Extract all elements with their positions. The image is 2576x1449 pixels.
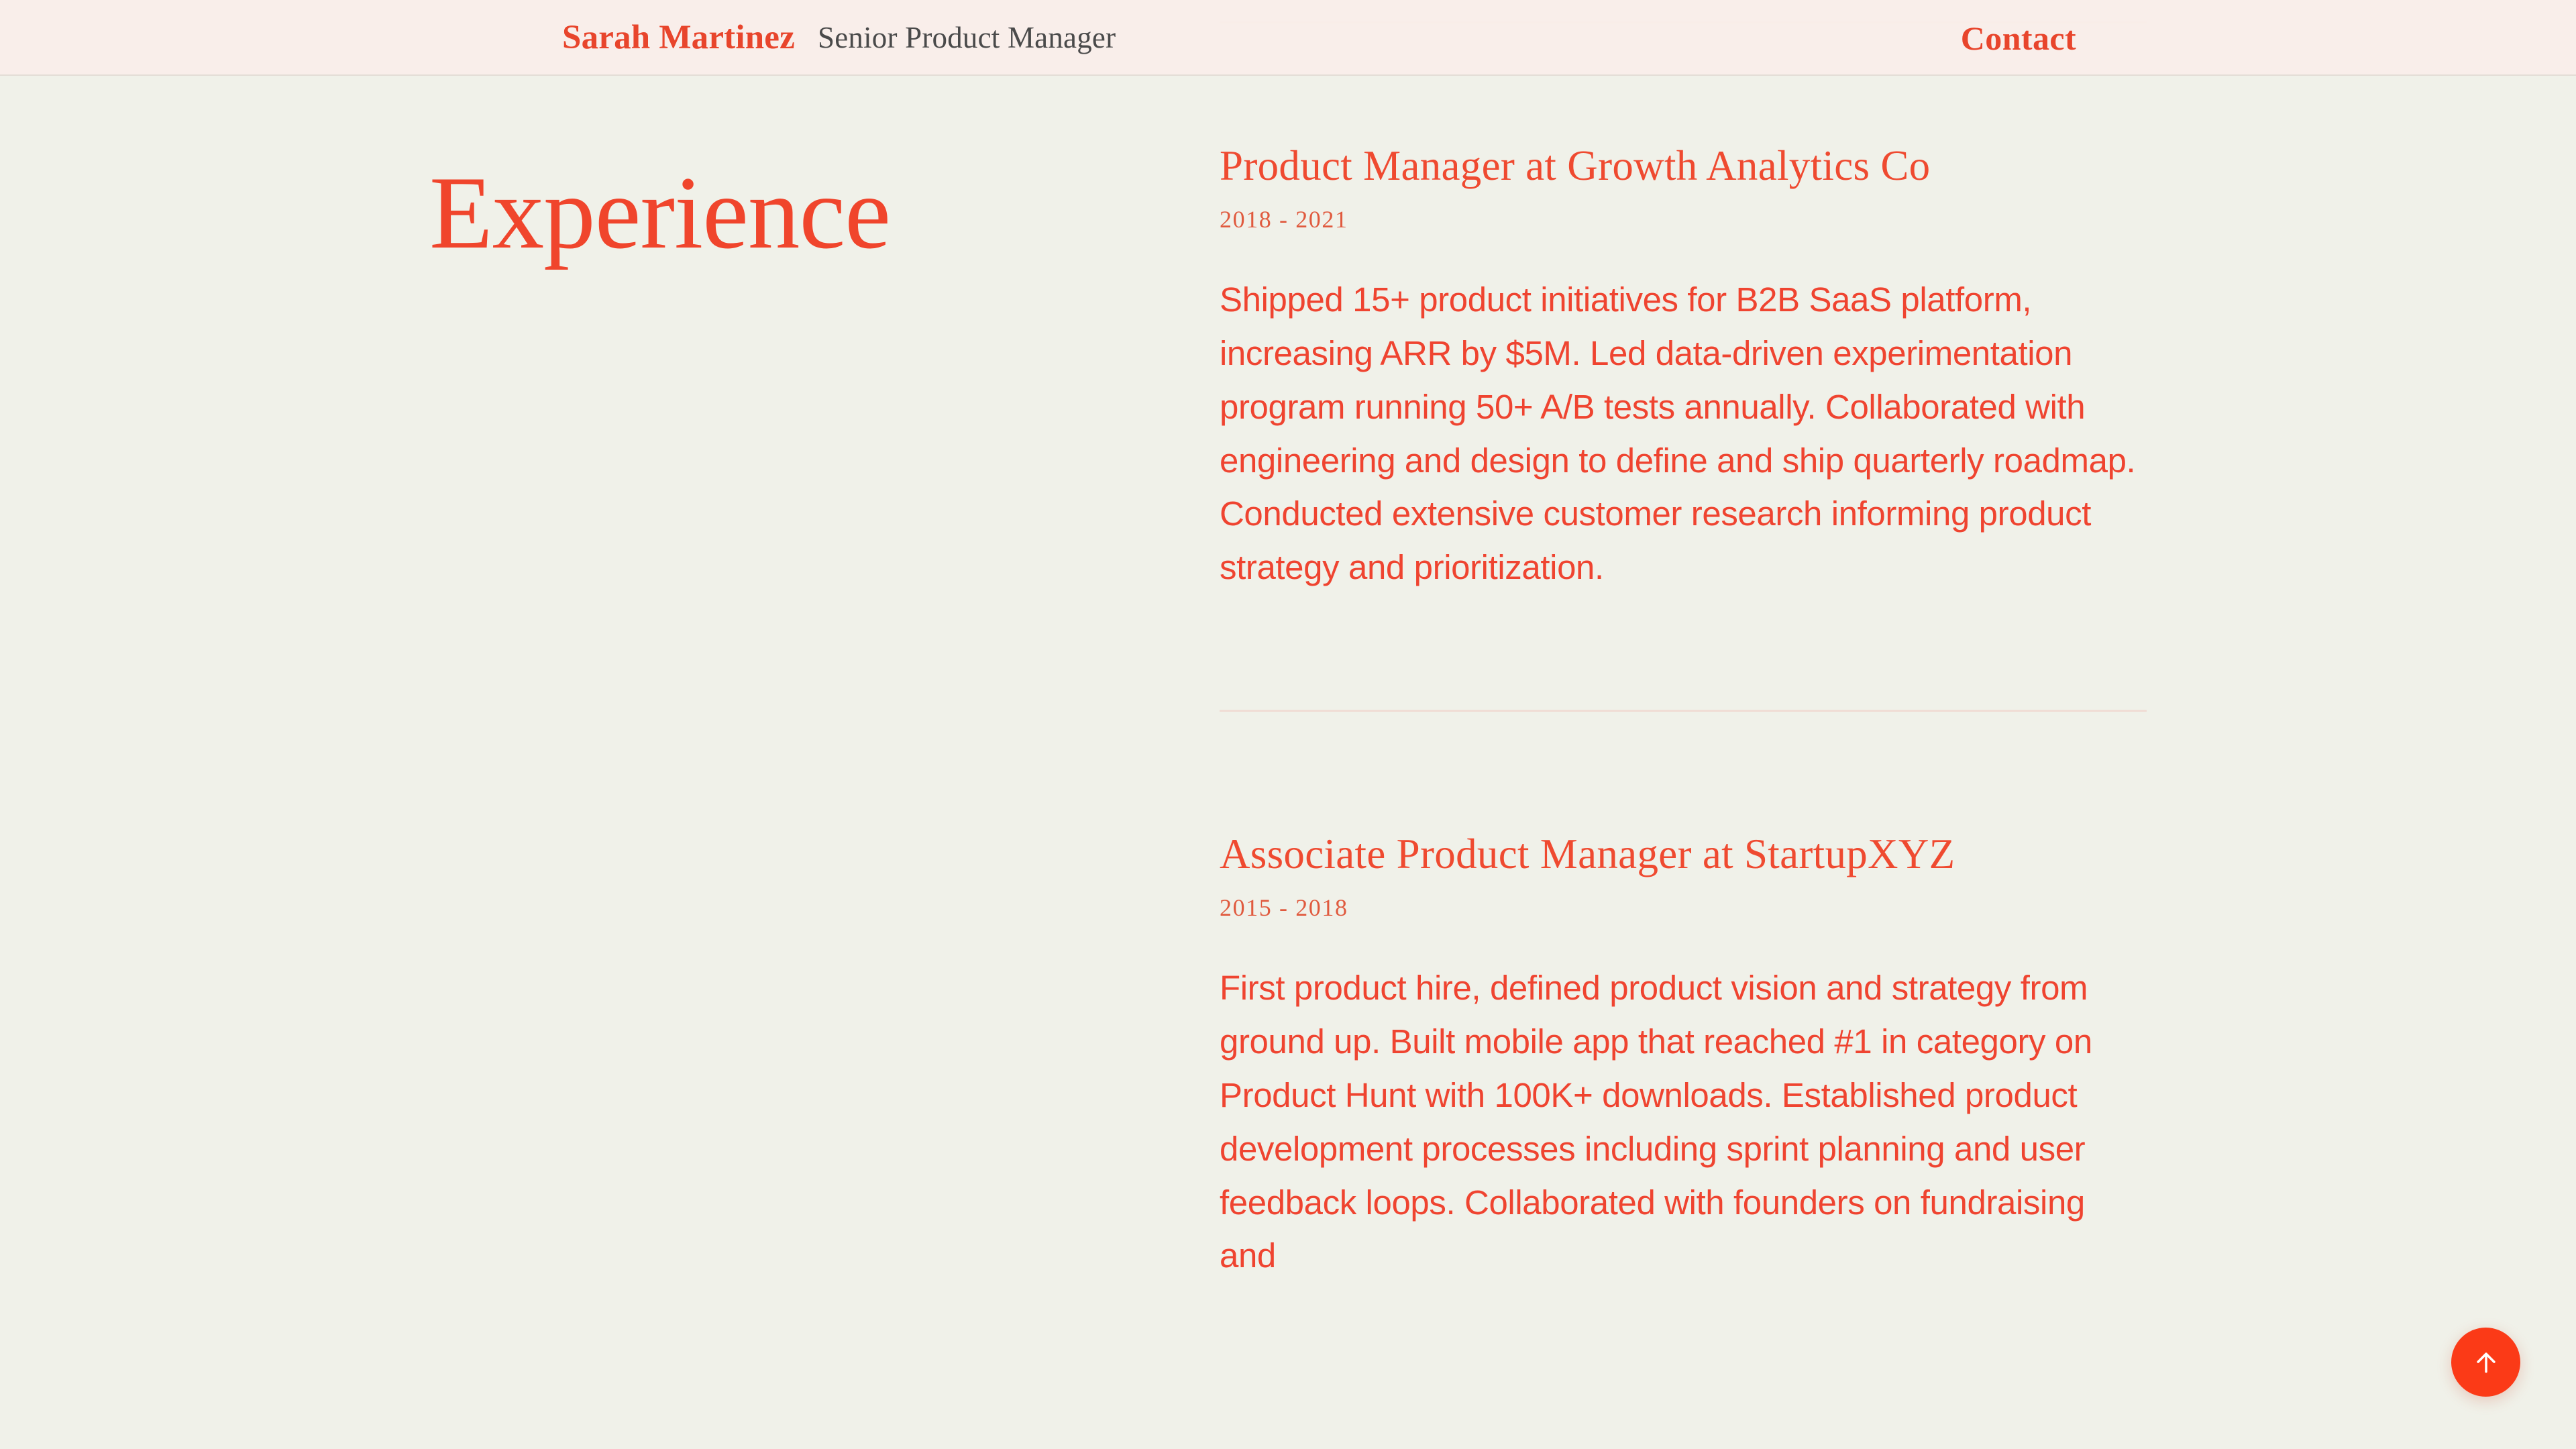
entry-divider	[1220, 710, 2147, 712]
brand-group[interactable]: Sarah Martinez Senior Product Manager	[562, 0, 1116, 76]
scroll-to-top-button[interactable]	[2451, 1328, 2520, 1397]
site-header: Sarah Martinez Senior Product Manager Co…	[0, 0, 2576, 76]
experience-entry: Associate Product Manager at StartupXYZ …	[1220, 830, 2147, 1283]
experience-list: engineers, designers, and analysts. Defi…	[1220, 0, 2147, 1283]
experience-entry-title: Product Manager at Growth Analytics Co	[1220, 142, 2147, 190]
experience-entry-dates: 2015 - 2018	[1220, 896, 2147, 920]
arrow-up-icon	[2471, 1348, 2501, 1377]
brand-name[interactable]: Sarah Martinez	[562, 21, 795, 55]
nav-link-contact[interactable]: Contact	[1961, 0, 2076, 76]
brand-role: Senior Product Manager	[818, 23, 1116, 53]
experience-entry: Product Manager at Growth Analytics Co 2…	[1220, 142, 2147, 594]
page-title: Experience	[429, 161, 890, 265]
experience-entry-title: Associate Product Manager at StartupXYZ	[1220, 830, 2147, 878]
experience-entry-dates: 2018 - 2021	[1220, 207, 2147, 231]
experience-entry-description: First product hire, defined product visi…	[1220, 961, 2147, 1283]
page-scroll-container[interactable]: Experience engineers, designers, and ana…	[0, 0, 2576, 1449]
experience-entry-description: Shipped 15+ product initiatives for B2B …	[1220, 273, 2147, 594]
